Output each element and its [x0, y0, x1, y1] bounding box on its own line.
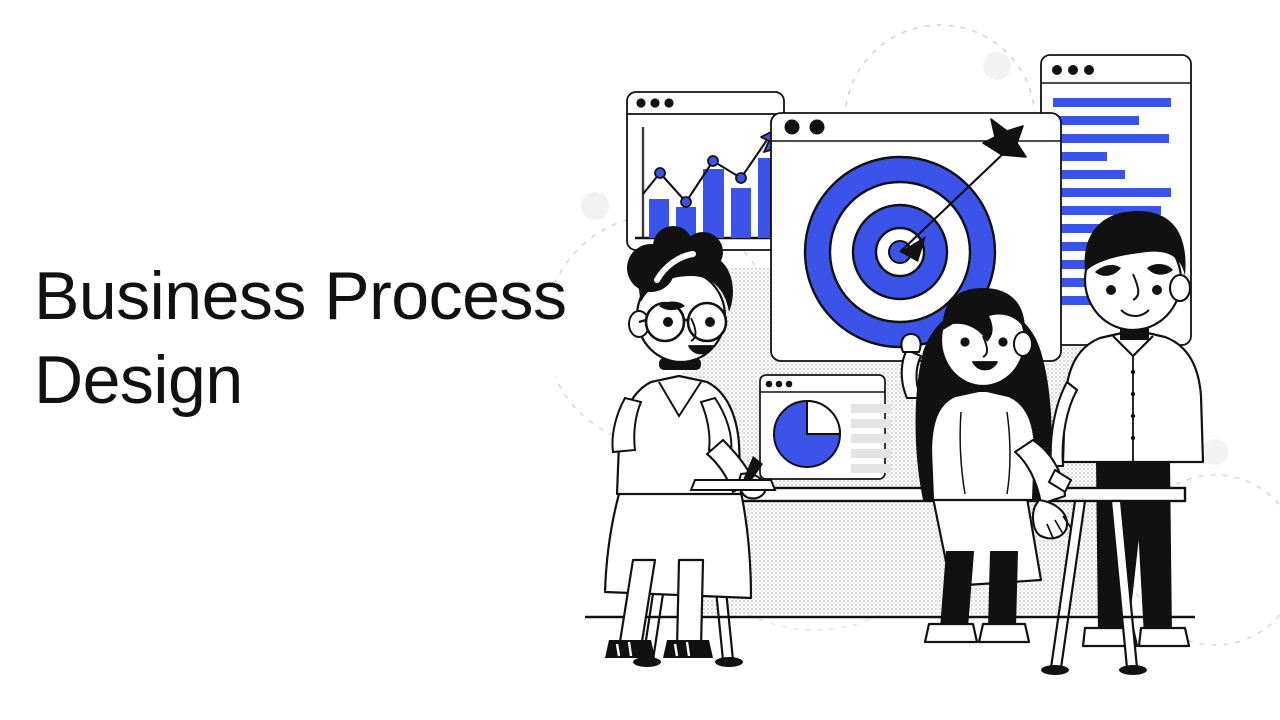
- pie-chart-legend-row: [851, 404, 891, 413]
- pie-chart-window[interactable]: [760, 375, 891, 479]
- pie-chart-legend-row: [851, 419, 891, 428]
- desk-leg-foot: [633, 657, 661, 667]
- window-dot-icon[interactable]: [766, 381, 773, 388]
- window-dot-icon[interactable]: [810, 120, 825, 135]
- woman-seated-leg-right: [989, 552, 1017, 628]
- pie-chart-window-dots[interactable]: [766, 381, 793, 388]
- window-dot-icon[interactable]: [776, 381, 783, 388]
- woman-seated-shoe-right: [979, 624, 1029, 642]
- bar-chart-window-dots[interactable]: [636, 98, 673, 107]
- page-title-line-2: Design: [34, 338, 574, 422]
- man-trousers: [1097, 460, 1171, 636]
- pie-chart-legend-row: [851, 434, 891, 443]
- window-dot-icon[interactable]: [1052, 65, 1062, 75]
- bar-chart-bar: [731, 188, 751, 238]
- document-text-line: [1053, 116, 1139, 125]
- bar-chart-line-marker: [655, 168, 665, 178]
- document-window-dots[interactable]: [1052, 65, 1094, 75]
- document-text-line: [1053, 134, 1169, 143]
- woman-seated-eye-right: [998, 337, 1007, 346]
- bar-chart-window[interactable]: [627, 92, 784, 250]
- man-eye-right: [1152, 285, 1162, 295]
- bar-chart-line-marker: [736, 173, 746, 183]
- bar-chart-bar: [703, 169, 724, 238]
- document-text-line: [1053, 170, 1125, 179]
- bar-chart-line-marker: [681, 197, 691, 207]
- woman-seated-shoe-left: [925, 624, 977, 642]
- man-ear: [1170, 275, 1190, 301]
- desk-leg-foot: [715, 657, 743, 667]
- document-text-line: [1053, 98, 1171, 107]
- business-team-analytics-illustration: [555, 0, 1280, 720]
- woman-seated-blouse: [931, 390, 1035, 500]
- notebook: [691, 480, 775, 490]
- woman-seated-eye-left: [960, 337, 969, 346]
- faint-dot-top: [983, 52, 1011, 80]
- woman-seated-leg-left: [941, 552, 973, 628]
- woman-glasses-eye-left: [663, 317, 673, 327]
- bar-chart-line-marker: [708, 156, 718, 166]
- woman-glasses-leg-right: [677, 560, 703, 648]
- window-dot-icon[interactable]: [664, 98, 673, 107]
- desk-leg-foot: [1041, 665, 1069, 675]
- window-dot-icon[interactable]: [1084, 65, 1094, 75]
- faint-dot-right: [1202, 439, 1228, 465]
- slide-root: Business Process Design: [0, 0, 1280, 720]
- window-dot-icon[interactable]: [785, 120, 800, 135]
- pie-chart-icon: [774, 401, 840, 467]
- page-title: Business Process Design: [34, 254, 574, 422]
- man-eye-left: [1106, 285, 1116, 295]
- man-shoe-right: [1139, 628, 1189, 646]
- window-dot-icon[interactable]: [786, 381, 793, 388]
- page-title-line-1: Business Process: [34, 254, 574, 338]
- woman-seated-ear: [1014, 332, 1032, 356]
- woman-seated-hand-raised: [901, 334, 920, 352]
- desk-leg-foot: [1119, 665, 1147, 675]
- document-text-line: [1053, 188, 1171, 197]
- faint-dot-left: [581, 192, 609, 220]
- pie-chart-legend-row: [851, 464, 891, 473]
- window-dot-icon[interactable]: [1068, 65, 1078, 75]
- window-dot-icon[interactable]: [650, 98, 659, 107]
- window-dot-icon[interactable]: [636, 98, 645, 107]
- pie-chart-legend-row: [851, 449, 891, 458]
- woman-glasses-eye-right: [705, 317, 715, 327]
